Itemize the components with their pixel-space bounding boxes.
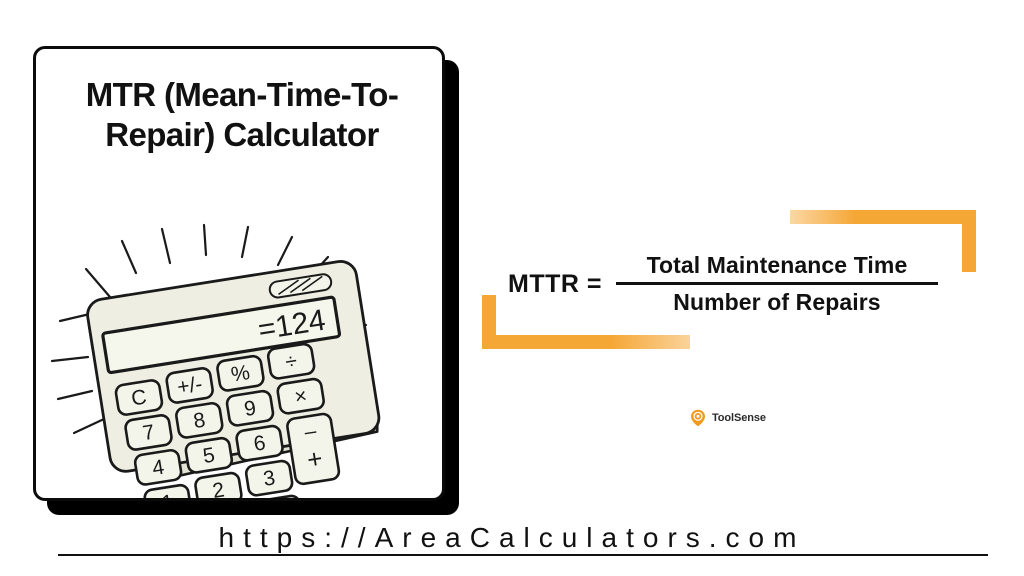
brand-name: ToolSense [712,412,766,424]
svg-text:+/-: +/- [176,373,204,400]
formula-fraction: Total Maintenance Time Number of Repairs [616,252,938,316]
site-url[interactable]: https://AreaCalculators.com [0,522,1024,554]
site-url-underline [58,554,988,556]
location-pin-icon [690,409,706,427]
formula-label: MTTR = [508,270,602,299]
svg-text:%: % [229,361,251,387]
mttr-formula: MTTR = Total Maintenance Time Number of … [508,252,938,316]
toolsense-logo: ToolSense [690,409,766,427]
card-body: MTR (Mean-Time-To-Repair) Calculator [33,46,445,501]
fraction-denominator: Number of Repairs [673,285,880,316]
calculator-illustration: =124 [36,221,442,499]
fraction-numerator: Total Maintenance Time [647,252,908,282]
calculator-body: =124 [85,259,395,499]
calculator-card: MTR (Mean-Time-To-Repair) Calculator [33,46,445,501]
formula-panel: MTTR = Total Maintenance Time Number of … [470,190,1010,390]
page-title: MTR (Mean-Time-To-Repair) Calculator [54,75,430,156]
